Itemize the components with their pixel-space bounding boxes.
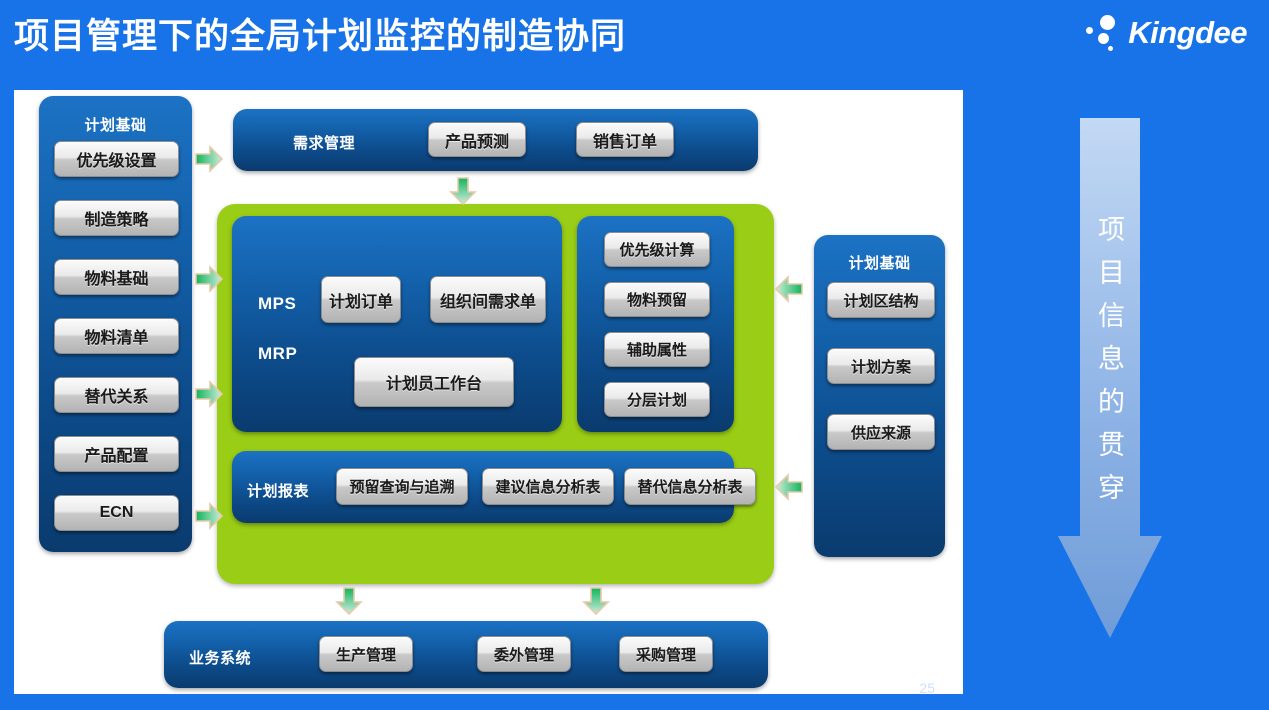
kingdee-logo: Kingdee xyxy=(1082,14,1247,52)
arrow-down-icon-1 xyxy=(449,176,477,206)
right-panel-item-1[interactable]: 计划方案 xyxy=(827,348,935,384)
page-title: 项目管理下的全局计划监控的制造协同 xyxy=(14,8,626,59)
report-bar-item-1[interactable]: 建议信息分析表 xyxy=(482,468,614,505)
left-panel-item-2[interactable]: 物料基础 xyxy=(54,259,179,295)
left-panel-item-6[interactable]: ECN xyxy=(54,495,179,531)
planning-feature-0[interactable]: 优先级计算 xyxy=(604,232,710,267)
right-panel-item-2[interactable]: 供应来源 xyxy=(827,414,935,450)
arrow-left-icon-1 xyxy=(774,275,804,303)
planning-core-item-2[interactable]: 计划员工作台 xyxy=(354,357,514,407)
arrow-right-icon-4 xyxy=(194,502,224,530)
arrow-right-icon-3 xyxy=(194,380,224,408)
planning-core-item-0[interactable]: 计划订单 xyxy=(321,276,401,323)
right-panel-item-0[interactable]: 计划区结构 xyxy=(827,282,935,318)
left-panel-item-0[interactable]: 优先级设置 xyxy=(54,141,179,177)
plan-report-bar: 计划报表 预留查询与追溯 建议信息分析表 替代信息分析表 xyxy=(232,451,734,523)
right-panel: 计划基础 计划区结构 计划方案 供应来源 xyxy=(814,235,945,557)
mrp-label: MRP xyxy=(258,344,297,364)
business-bar-item-1[interactable]: 委外管理 xyxy=(477,636,571,672)
planning-core-panel: MPS MRP 计划订单 组织间需求单 计划员工作台 xyxy=(232,216,562,432)
mps-label: MPS xyxy=(258,294,296,314)
page-number: 25 xyxy=(919,680,935,696)
left-panel-item-3[interactable]: 物料清单 xyxy=(54,318,179,354)
diagram-canvas: 计划基础 优先级设置 制造策略 物料基础 物料清单 替代关系 产品配置 ECN … xyxy=(14,90,963,694)
arrow-down-icon-3 xyxy=(582,586,610,616)
arrow-left-icon-2 xyxy=(774,473,804,501)
business-system-bar: 业务系统 生产管理 委外管理 采购管理 xyxy=(164,621,768,688)
demand-bar-item-0[interactable]: 产品预测 xyxy=(428,122,526,157)
arrow-right-icon-1 xyxy=(194,145,224,173)
report-bar-item-0[interactable]: 预留查询与追溯 xyxy=(336,468,468,505)
business-bar-item-2[interactable]: 采购管理 xyxy=(619,636,713,672)
flow-arrow-label: 项目信息的贯穿 xyxy=(1086,200,1132,530)
planning-feature-1[interactable]: 物料预留 xyxy=(604,282,710,317)
demand-bar-item-1[interactable]: 销售订单 xyxy=(576,122,674,157)
left-panel-item-1[interactable]: 制造策略 xyxy=(54,200,179,236)
brand-name: Kingdee xyxy=(1128,15,1247,51)
demand-management-bar: 需求管理 产品预测 销售订单 xyxy=(233,109,758,171)
kingdee-dots-icon xyxy=(1082,14,1122,52)
business-bar-title: 业务系统 xyxy=(189,647,251,668)
report-bar-item-2[interactable]: 替代信息分析表 xyxy=(624,468,756,505)
planning-feature-3[interactable]: 分层计划 xyxy=(604,382,710,417)
demand-bar-title: 需求管理 xyxy=(293,132,355,153)
left-panel: 计划基础 优先级设置 制造策略 物料基础 物料清单 替代关系 产品配置 ECN xyxy=(39,96,192,552)
arrow-down-icon-2 xyxy=(335,586,363,616)
planning-feature-2[interactable]: 辅助属性 xyxy=(604,332,710,367)
left-panel-item-5[interactable]: 产品配置 xyxy=(54,436,179,472)
business-bar-item-0[interactable]: 生产管理 xyxy=(319,636,413,672)
arrow-right-icon-2 xyxy=(194,265,224,293)
left-panel-title: 计划基础 xyxy=(39,114,192,135)
left-panel-item-4[interactable]: 替代关系 xyxy=(54,377,179,413)
right-panel-title: 计划基础 xyxy=(814,252,945,273)
planning-features-panel: 优先级计算 物料预留 辅助属性 分层计划 xyxy=(577,216,734,432)
planning-core-item-1[interactable]: 组织间需求单 xyxy=(430,276,546,323)
report-bar-title: 计划报表 xyxy=(247,480,309,501)
